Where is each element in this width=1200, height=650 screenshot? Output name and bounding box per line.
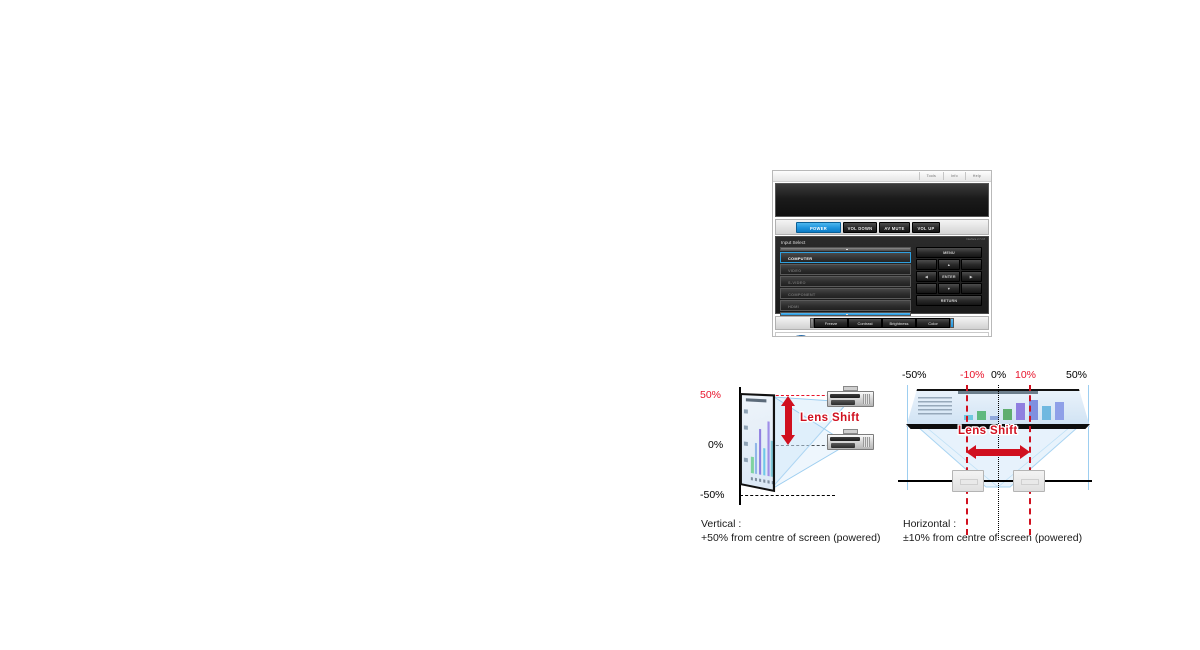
input-select-title: Input Select xyxy=(781,240,984,245)
horizontal-floor-line xyxy=(898,480,1092,482)
pad-spacer-bottom-right xyxy=(961,283,982,294)
projection-screen-image xyxy=(740,393,775,492)
horizontal-neg10-guideline xyxy=(966,385,968,535)
panel-footer: Expansion Options xyxy=(775,332,989,337)
navigation-pad: MENU ▲ ◀ ENTER ▶ ▼ RETURN xyxy=(916,247,982,316)
panel-top-nav: Tools Info Help xyxy=(773,171,991,182)
input-item-component[interactable]: COMPONENT xyxy=(780,288,911,299)
arrow-left-icon[interactable]: ◀ xyxy=(916,271,937,282)
list-scroll-down[interactable] xyxy=(780,312,911,316)
color-button[interactable]: Color xyxy=(916,318,950,328)
input-item-video[interactable]: VIDEO xyxy=(780,264,911,275)
pad-spacer-bottom-left xyxy=(916,283,937,294)
arrow-up-icon[interactable]: ▲ xyxy=(938,259,959,270)
panel-banner xyxy=(775,183,989,217)
horizontal-10-guideline xyxy=(1029,385,1031,535)
vertical-lens-shift-label: Lens Shift xyxy=(800,412,860,424)
vertical-caption-detail: +50% from centre of screen (powered) xyxy=(701,531,880,545)
crestron-logo-icon xyxy=(780,335,810,337)
horizontal-lens-shift-label: Lens Shift xyxy=(958,425,1018,437)
nav-item-help[interactable]: Help xyxy=(965,172,988,180)
horizontal-caption-detail: ±10% from centre of screen (powered) xyxy=(903,531,1082,545)
projector-icon-right xyxy=(1013,470,1045,492)
panel-primary-button-bar: POWER VOL DOWN AV MUTE VOL UP xyxy=(775,219,989,235)
arrow-down-icon[interactable]: ▼ xyxy=(938,283,959,294)
projector-icon-left xyxy=(952,470,984,492)
contrast-button[interactable]: Contrast xyxy=(848,318,882,328)
input-item-hdmi[interactable]: HDMI xyxy=(780,300,911,311)
panel-function-bar: Freeze Contrast Brightness Color xyxy=(775,316,989,330)
horizontal-shift-arrow-icon xyxy=(966,445,1030,460)
crestron-control-panel: Tools Info Help POWER VOL DOWN AV MUTE V… xyxy=(772,170,992,337)
projector-icon-top xyxy=(827,386,874,407)
vertical-caption-title: Vertical : xyxy=(701,517,880,531)
input-item-s-video[interactable]: S-VIDEO xyxy=(780,276,911,287)
pad-spacer-top-left xyxy=(916,259,937,270)
return-button[interactable]: RETURN xyxy=(916,295,982,306)
freeze-button[interactable]: Freeze xyxy=(814,318,848,328)
menu-button[interactable]: MENU xyxy=(916,247,982,258)
nav-item-info[interactable]: Info xyxy=(943,172,965,180)
power-button[interactable]: POWER xyxy=(796,222,841,233)
interface-version-label: Interface 2.7.2.8 xyxy=(966,238,985,241)
nav-item-tools[interactable]: Tools xyxy=(919,172,943,180)
horizontal-caption: Horizontal : ±10% from centre of screen … xyxy=(903,517,1082,545)
horizontal-caption-title: Horizontal : xyxy=(903,517,1082,531)
av-mute-button[interactable]: AV MUTE xyxy=(879,222,910,233)
panel-main-body: Interface 2.7.2.8 Input Select COMPUTER … xyxy=(775,236,989,314)
vol-down-button[interactable]: VOL DOWN xyxy=(843,222,877,233)
brightness-button[interactable]: Brightness xyxy=(882,318,916,328)
input-source-list: COMPUTER VIDEO S-VIDEO COMPONENT HDMI xyxy=(780,247,911,316)
vertical-caption: Vertical : +50% from centre of screen (p… xyxy=(701,517,880,545)
projector-icon-bottom xyxy=(827,429,874,450)
list-scroll-up[interactable] xyxy=(780,247,911,251)
input-item-computer[interactable]: COMPUTER xyxy=(780,252,911,263)
vol-up-button[interactable]: VOL UP xyxy=(912,222,940,233)
vertical-shift-arrow-icon xyxy=(781,396,796,445)
function-scroll-right[interactable] xyxy=(950,318,954,328)
arrow-right-icon[interactable]: ▶ xyxy=(961,271,982,282)
pad-spacer-top-right xyxy=(961,259,982,270)
enter-button[interactable]: ENTER xyxy=(938,271,959,282)
